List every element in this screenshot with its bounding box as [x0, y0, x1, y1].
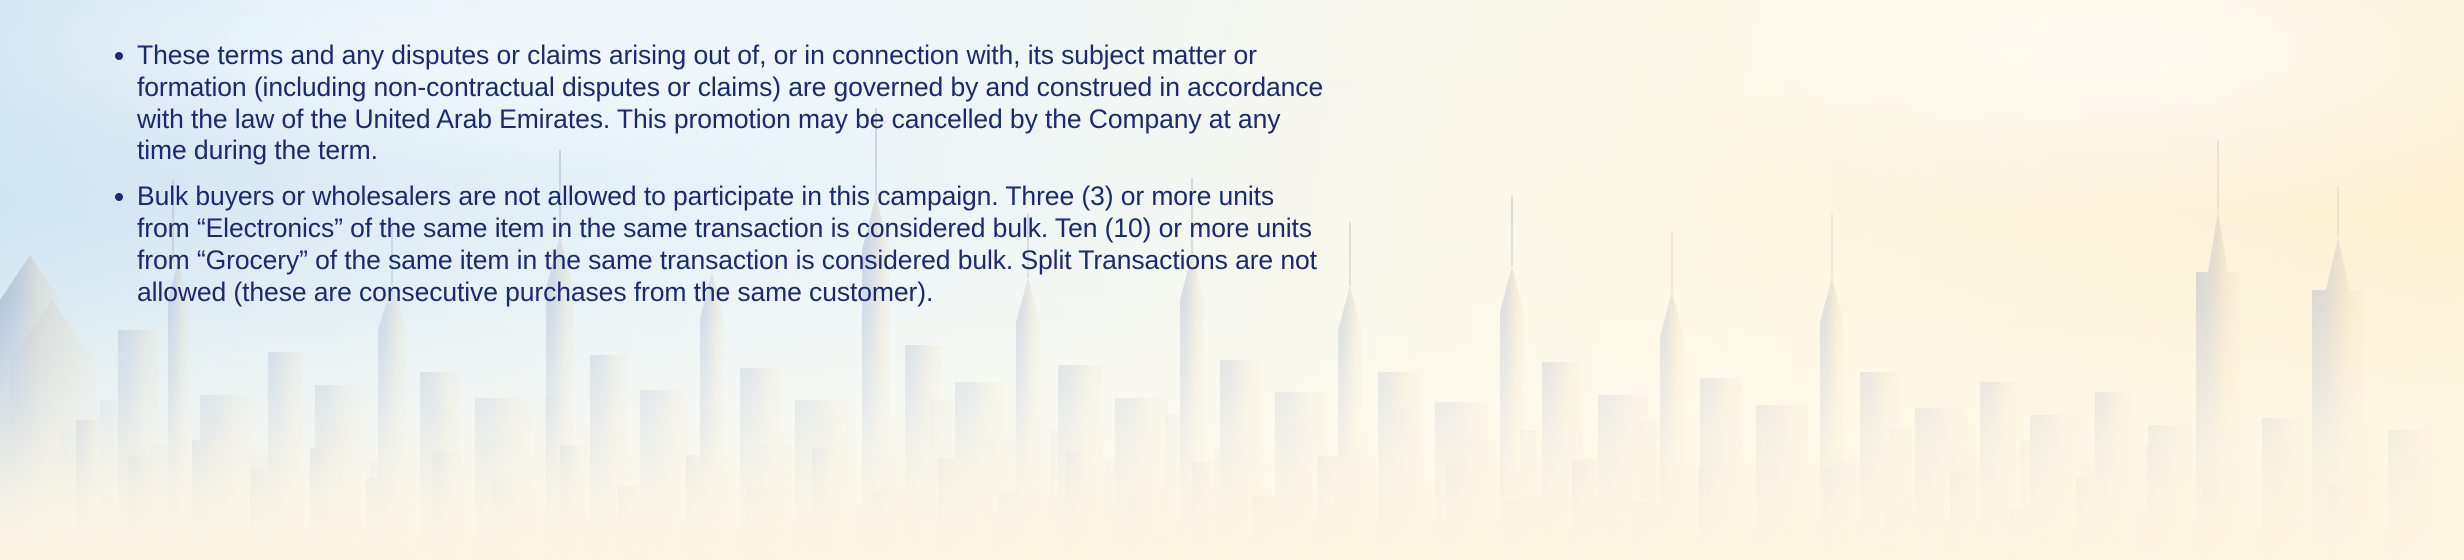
- list-item: These terms and any disputes or claims a…: [115, 40, 2365, 167]
- bullet-icon: [115, 52, 123, 60]
- terms-list: These terms and any disputes or claims a…: [115, 40, 2365, 308]
- term-line: time during the term.: [137, 135, 2365, 167]
- term-line: Bulk buyers or wholesalers are not allow…: [137, 181, 2365, 213]
- list-item: Bulk buyers or wholesalers are not allow…: [115, 181, 2365, 308]
- term-line: from “Electronics” of the same item in t…: [137, 213, 2365, 245]
- term-line: from “Grocery” of the same item in the s…: [137, 245, 2365, 277]
- bullet-icon: [115, 193, 123, 201]
- term-line: These terms and any disputes or claims a…: [137, 40, 2365, 72]
- term-line: with the law of the United Arab Emirates…: [137, 104, 2365, 136]
- term-line: allowed (these are consecutive purchases…: [137, 277, 2365, 309]
- atmospheric-haze: [0, 302, 2464, 560]
- terms-content: These terms and any disputes or claims a…: [115, 40, 2365, 308]
- term-line: formation (including non-contractual dis…: [137, 72, 2365, 104]
